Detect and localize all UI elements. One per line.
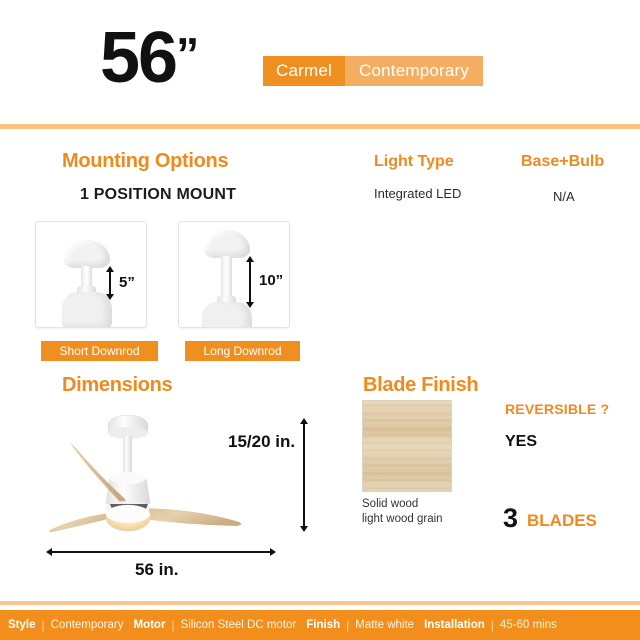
footer-label-style: Style xyxy=(8,619,36,631)
mount-option-card-long: 10” xyxy=(178,221,290,328)
height-measure-line xyxy=(303,424,305,528)
header-divider xyxy=(0,124,640,129)
blade-finish-title: Blade Finish xyxy=(363,374,478,397)
footer-value-motor: Silicon Steel DC motor xyxy=(181,619,297,631)
ceiling-fan-illustration xyxy=(40,408,290,548)
header: 56” Carmel Contemporary xyxy=(0,0,640,124)
footer-value-installation: 45-60 mins xyxy=(500,619,557,631)
mount-option-card-short: 5” xyxy=(35,221,147,328)
measure-arrow-down-short xyxy=(106,294,114,300)
footer-spec-bar: Style | Contemporary Motor | Silicon Ste… xyxy=(0,610,640,640)
footer-label-finish: Finish xyxy=(306,619,340,631)
height-measure-arrow-up xyxy=(300,418,308,424)
blade-count-label: BLADES xyxy=(527,511,597,531)
width-measure-line xyxy=(52,551,270,553)
footer-value-finish: Matte white xyxy=(355,619,414,631)
footer-label-installation: Installation xyxy=(424,619,485,631)
swatch-caption-line-2: light wood grain xyxy=(362,512,443,526)
model-name-badge: Carmel xyxy=(263,56,345,86)
height-measure-arrow-down xyxy=(300,526,308,532)
width-measure-arrow-right xyxy=(270,548,276,556)
footer-separator: | xyxy=(346,618,349,632)
footer-divider xyxy=(0,601,640,605)
mounting-options-title: Mounting Options xyxy=(62,150,228,173)
measure-line-short xyxy=(109,270,111,296)
width-measure-label: 56 in. xyxy=(135,560,178,580)
footer-value-style: Contemporary xyxy=(51,619,124,631)
base-bulb-value: N/A xyxy=(553,189,575,204)
height-measure-label: 15/20 in. xyxy=(228,432,295,452)
measure-line-long xyxy=(249,260,251,304)
measure-arrow-down-long xyxy=(246,302,254,308)
fan-size-heading: 56” xyxy=(100,22,198,94)
mount-badge-long: Long Downrod xyxy=(185,341,300,361)
width-measure-arrow-left xyxy=(46,548,52,556)
reversible-value: YES xyxy=(505,433,537,451)
measure-label-long: 10” xyxy=(259,272,283,289)
light-type-title: Light Type xyxy=(374,153,454,171)
canopy-shape xyxy=(64,240,110,268)
canopy-shape xyxy=(204,230,250,258)
mounting-position-subtitle: 1 POSITION MOUNT xyxy=(80,186,236,204)
downrod-shape xyxy=(221,256,232,300)
measure-label-short: 5” xyxy=(119,274,135,291)
base-bulb-title: Base+Bulb xyxy=(521,153,604,171)
blade-count-number: 3 xyxy=(503,503,518,534)
footer-separator: | xyxy=(42,618,45,632)
fan-size-number: 56 xyxy=(100,18,176,98)
swatch-caption-line-1: Solid wood xyxy=(362,497,418,511)
model-style-badge: Carmel Contemporary xyxy=(263,56,483,86)
motor-housing-shape xyxy=(62,292,112,328)
wood-finish-swatch xyxy=(362,400,452,492)
footer-label-motor: Motor xyxy=(134,619,166,631)
motor-housing-shape xyxy=(202,302,252,328)
footer-separator: | xyxy=(491,618,494,632)
dimensions-title: Dimensions xyxy=(62,374,172,397)
style-name-badge: Contemporary xyxy=(345,56,483,86)
inch-mark: ” xyxy=(176,28,198,80)
footer-separator: | xyxy=(171,618,174,632)
reversible-title: REVERSIBLE ? xyxy=(505,401,609,417)
mount-badge-short: Short Downrod xyxy=(41,341,158,361)
light-type-value: Integrated LED xyxy=(374,186,461,201)
